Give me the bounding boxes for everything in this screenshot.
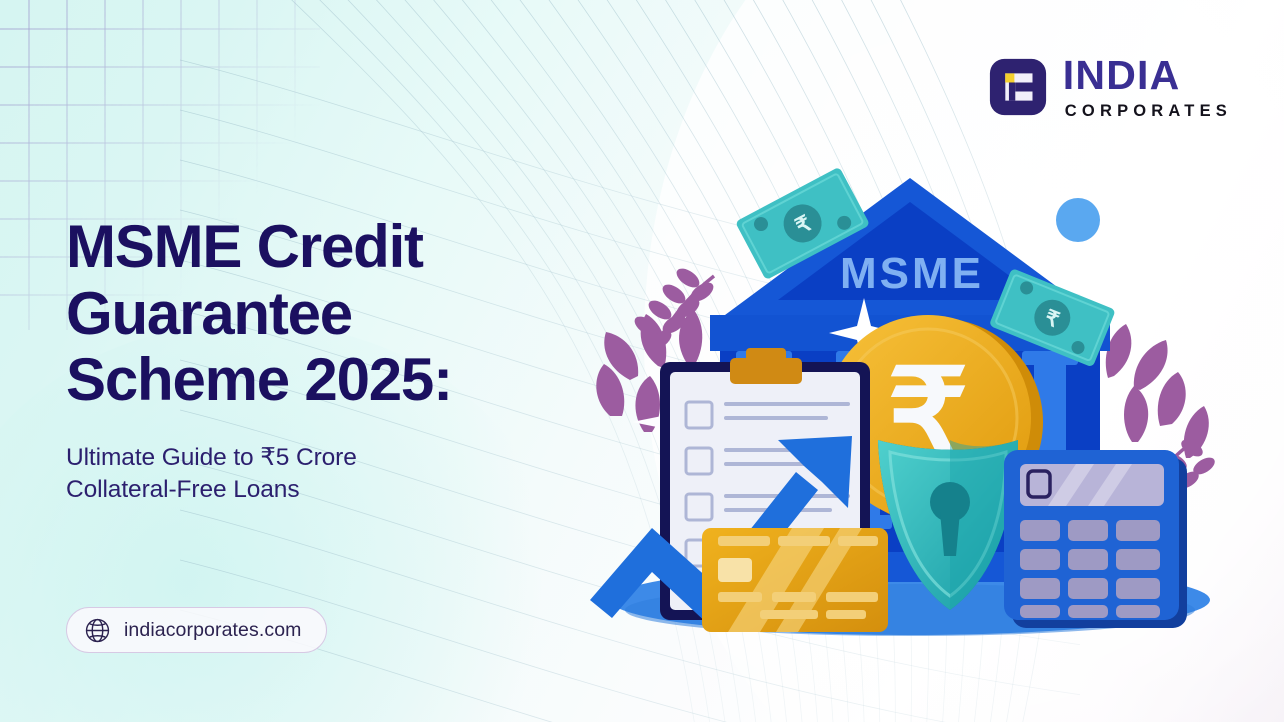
subhead-line-2: Collateral-Free Loans xyxy=(66,476,300,503)
banner-canvas: INDIA CORPORATES MSME Credit Guarantee S… xyxy=(0,0,1284,722)
brand-wordmark: INDIA CORPORATES xyxy=(1063,55,1232,120)
subhead-line-1: Ultimate Guide to ₹5 Crore xyxy=(66,444,357,471)
calculator xyxy=(1004,450,1187,628)
website-url: indiacorporates.com xyxy=(124,619,302,642)
headline-line-2: Guarantee xyxy=(66,280,352,347)
india-corporates-logo-mark-icon xyxy=(989,58,1047,116)
headline-line-3: Scheme 2025: xyxy=(66,346,452,413)
page-title: MSME Credit Guarantee Scheme 2025: xyxy=(66,214,626,414)
globe-icon xyxy=(84,617,111,644)
brand-name-primary: INDIA xyxy=(1063,55,1232,96)
brand-logo[interactable]: INDIA CORPORATES xyxy=(989,55,1232,120)
brand-name-secondary: CORPORATES xyxy=(1063,103,1232,120)
msme-finance-illustration: MSME xyxy=(560,140,1260,660)
text-block: MSME Credit Guarantee Scheme 2025: Ultim… xyxy=(66,214,626,507)
headline-line-1: MSME Credit xyxy=(66,213,423,280)
bank-label: MSME xyxy=(840,249,984,298)
page-subtitle: Ultimate Guide to ₹5 Crore Collateral-Fr… xyxy=(66,442,626,507)
website-badge[interactable]: indiacorporates.com xyxy=(66,607,327,653)
illustration-svg: MSME xyxy=(560,140,1260,660)
